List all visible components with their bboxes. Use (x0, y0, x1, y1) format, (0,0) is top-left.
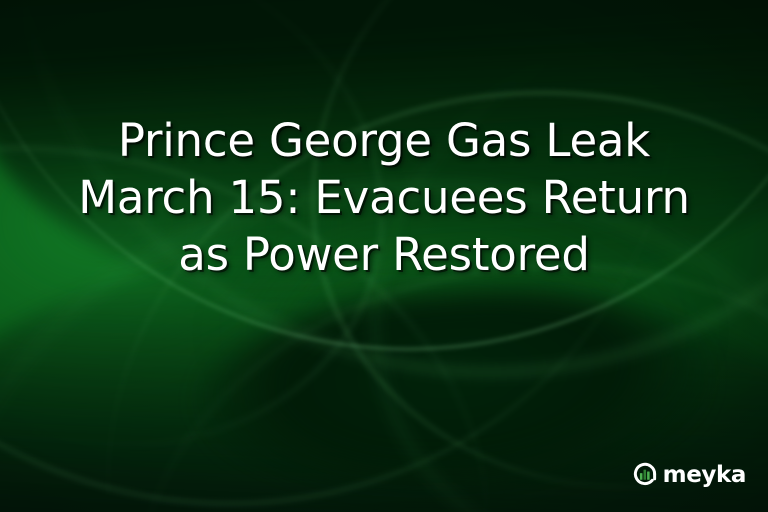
headline-line-2: March 15: Evacuees Return (28, 169, 740, 226)
headline-line-3: as Power Restored (28, 226, 740, 283)
headline-block: Prince George Gas Leak March 15: Evacuee… (0, 112, 768, 283)
news-banner: Prince George Gas Leak March 15: Evacuee… (0, 0, 768, 512)
headline-line-1: Prince George Gas Leak (28, 112, 740, 169)
brand-logo[interactable]: meyka (631, 460, 746, 488)
brand-name: meyka (663, 464, 746, 487)
meyka-logo-icon (631, 460, 659, 488)
